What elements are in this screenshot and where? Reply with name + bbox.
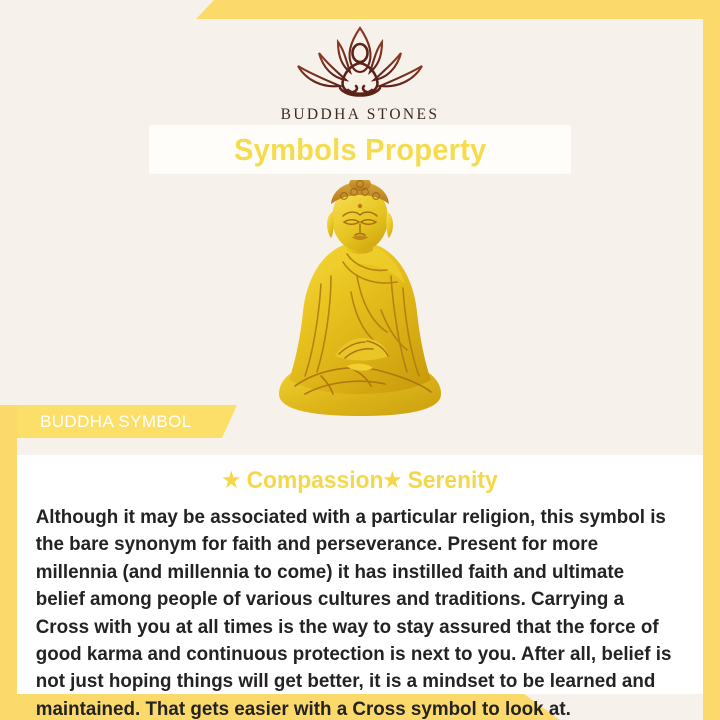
title-banner: Symbols Property [150, 126, 570, 173]
headline-word-compassion: Compassion [247, 467, 384, 494]
poster-root: BUDDHA STONES Symbols Property [0, 0, 720, 720]
brand-name: BUDDHA STONES [0, 106, 720, 124]
content-headline: ★ Compassion★ Serenity [34, 455, 686, 495]
page-title: Symbols Property [234, 132, 486, 168]
star-icon-1: ★ [222, 469, 240, 492]
star-icon-2: ★ [383, 469, 401, 492]
content-panel: ★ Compassion★ Serenity Although it may b… [17, 455, 703, 694]
content-body-text: Although it may be associated with a par… [17, 495, 693, 720]
golden-seated-buddha-illustration [255, 180, 465, 426]
lotus-meditation-icon [278, 22, 442, 102]
brand-header: BUDDHA STONES [0, 22, 720, 124]
headline-word-serenity: Serenity [408, 467, 498, 494]
hero-image [0, 176, 720, 426]
buddha-symbol-tag-label: BUDDHA SYMBOL [17, 412, 192, 432]
decorative-band-top [196, 0, 720, 19]
decorative-band-left [0, 405, 17, 720]
buddha-symbol-tag: BUDDHA SYMBOL [17, 405, 237, 438]
